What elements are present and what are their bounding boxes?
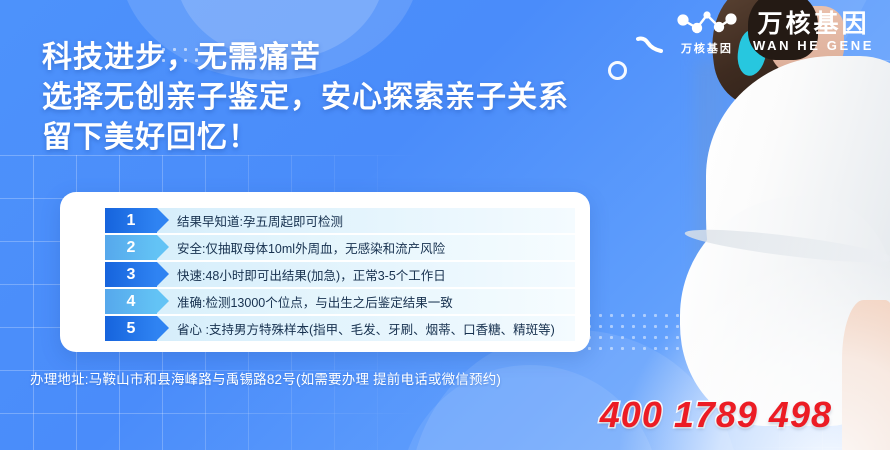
feature-number-badge: 5: [105, 316, 157, 341]
logo-wordmark: 万核基因 WAN HE GENE: [753, 11, 874, 53]
headline-line-2: 选择无创亲子鉴定，安心探索亲子关系: [42, 78, 569, 118]
feature-text: 准确:检测13000个位点，与出生之后鉴定结果一致: [157, 289, 575, 314]
feature-row: 4准确:检测13000个位点，与出生之后鉴定结果一致: [105, 289, 575, 314]
logo-mark: 万核基因: [675, 8, 739, 56]
feature-list: 1结果早知道:孕五周起即可检测2安全:仅抽取母体10ml外周血，无感染和流产风险…: [105, 208, 575, 343]
squiggle-icon: [636, 36, 664, 54]
headline: 科技进步，无需痛苦 选择无创亲子鉴定，安心探索亲子关系 留下美好回忆！: [42, 38, 569, 158]
hotline-phone-number[interactable]: 400 1789 498: [600, 394, 832, 436]
feature-row: 5省心 :支持男方特殊样本(指甲、毛发、牙刷、烟蒂、口香糖、精斑等): [105, 316, 575, 341]
logo-name-en: WAN HE GENE: [753, 38, 874, 53]
ring-icon: [608, 61, 627, 80]
feature-text: 省心 :支持男方特殊样本(指甲、毛发、牙刷、烟蒂、口香糖、精斑等): [157, 316, 575, 341]
feature-row: 1结果早知道:孕五周起即可检测: [105, 208, 575, 233]
logo-name-cn: 万核基因: [757, 11, 869, 37]
feature-row: 2安全:仅抽取母体10ml外周血，无感染和流产风险: [105, 235, 575, 260]
molecule-icon: [675, 8, 739, 38]
headline-line-1: 科技进步，无需痛苦: [42, 38, 569, 78]
headline-line-3: 留下美好回忆！: [42, 118, 569, 158]
feature-row: 3快速:48小时即可出结果(加急)，正常3-5个工作日: [105, 262, 575, 287]
office-address: 办理地址:马鞍山市和县海峰路与禹锡路82号(如需要办理 提前电话或微信预约): [30, 368, 501, 388]
brand-logo[interactable]: 万核基因 万核基因 WAN HE GENE: [675, 8, 874, 56]
feature-number-badge: 4: [105, 289, 157, 314]
feature-number-badge: 2: [105, 235, 157, 260]
feature-card: 1结果早知道:孕五周起即可检测2安全:仅抽取母体10ml外周血，无感染和流产风险…: [60, 192, 590, 352]
feature-text: 快速:48小时即可出结果(加急)，正常3-5个工作日: [157, 262, 575, 287]
promo-banner: 万核基因 万核基因 WAN HE GENE 科技进步，无需痛苦 选择无创亲子鉴定…: [0, 0, 890, 450]
logo-mark-caption: 万核基因: [681, 40, 733, 56]
feature-text: 结果早知道:孕五周起即可检测: [157, 208, 575, 233]
feature-number-badge: 1: [105, 208, 157, 233]
feature-text: 安全:仅抽取母体10ml外周血，无感染和流产风险: [157, 235, 575, 260]
feature-number-badge: 3: [105, 262, 157, 287]
